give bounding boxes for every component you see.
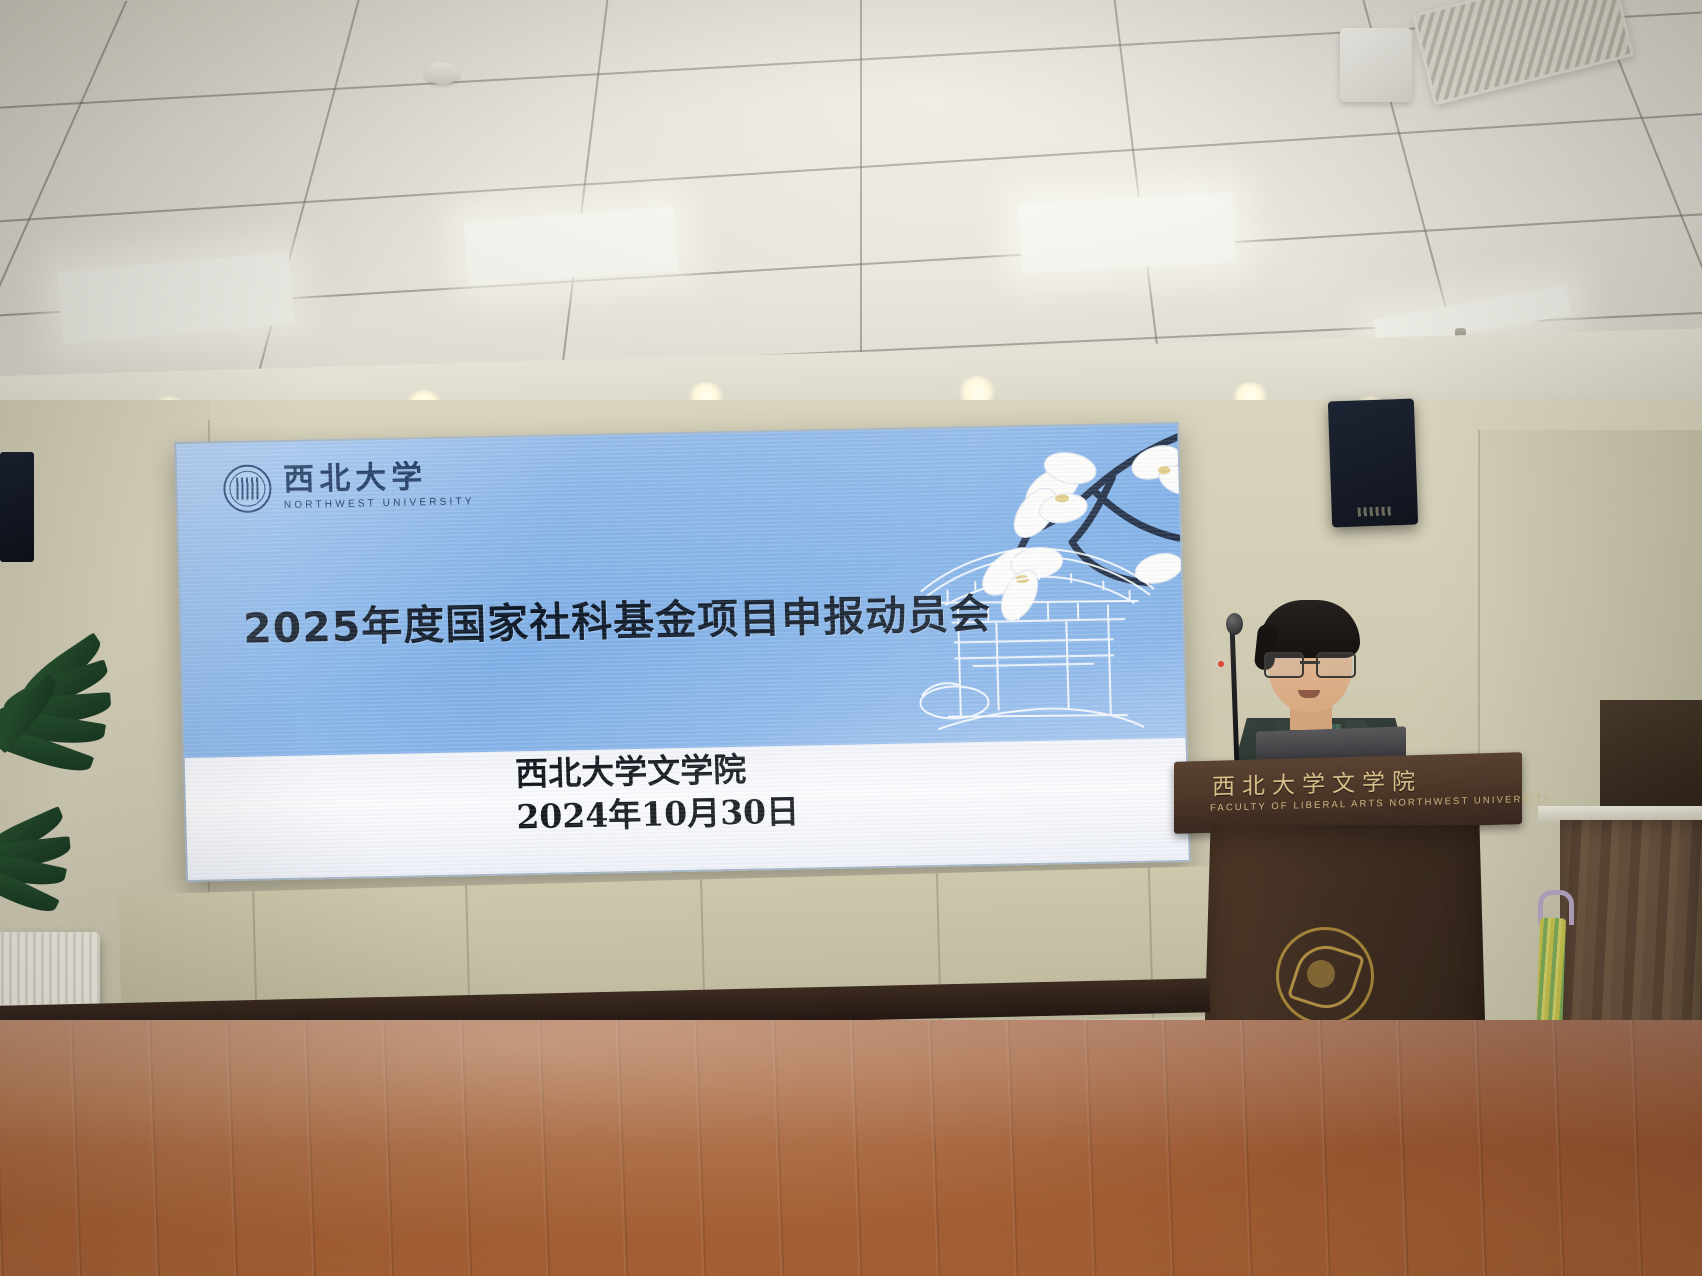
wooden-floor bbox=[0, 1020, 1702, 1276]
slide-subtitle: 西北大学文学院 2024年10月30日 bbox=[515, 748, 800, 839]
conference-room-photo: 西北大学 NORTHWEST UNIVERSITY 2025年度国家社科基金项目… bbox=[0, 0, 1702, 1276]
potted-plant bbox=[0, 600, 180, 1040]
podium-plate-chinese: 西北大学文学院 bbox=[1212, 762, 1422, 802]
smoke-detector-icon bbox=[425, 62, 459, 84]
slide-surface: 西北大学 NORTHWEST UNIVERSITY 2025年度国家社科基金项目… bbox=[174, 422, 1191, 882]
slide-subtitle-org: 西北大学文学院 bbox=[515, 748, 799, 797]
microphone-icon bbox=[1226, 613, 1243, 635]
university-logo: 西北大学 NORTHWEST UNIVERSITY bbox=[223, 460, 475, 513]
presenter-hair bbox=[1260, 600, 1360, 658]
slide-subtitle-date: 2024年10月30日 bbox=[516, 791, 800, 840]
led-panel-light bbox=[1018, 192, 1235, 273]
wall-pa-speaker bbox=[0, 452, 34, 562]
wifi-access-point-icon bbox=[1340, 28, 1412, 102]
led-presentation-screen[interactable]: 西北大学 NORTHWEST UNIVERSITY 2025年度国家社科基金项目… bbox=[174, 422, 1191, 882]
floor-reflection bbox=[0, 1020, 1702, 1276]
university-crest-icon bbox=[1276, 927, 1374, 1025]
podium-nameplate: 西北大学文学院 FACULTY OF LIBERAL ARTS NORTHWES… bbox=[1174, 752, 1522, 834]
university-seal-icon bbox=[223, 464, 272, 513]
eyeglasses-icon bbox=[1264, 652, 1356, 674]
logo-chinese-name: 西北大学 bbox=[283, 461, 475, 496]
wood-window-frame bbox=[1600, 700, 1702, 812]
chinese-pavilion-illustration bbox=[910, 542, 1165, 747]
wall-pa-speaker bbox=[1328, 399, 1418, 528]
microphone-status-led bbox=[1218, 661, 1224, 667]
